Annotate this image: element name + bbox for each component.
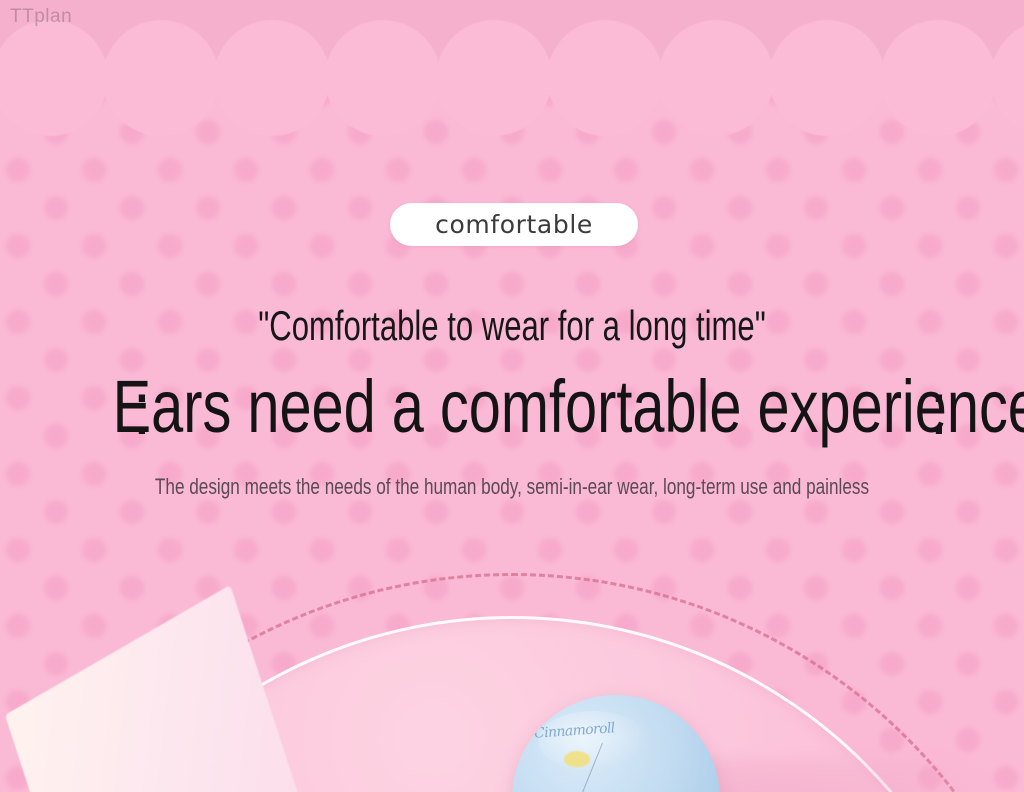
comfortable-badge: comfortable: [390, 203, 638, 246]
scallop-arc: [436, 20, 552, 136]
headline-mark-right-glyph: :: [935, 390, 942, 446]
hero-headline-wrap: Ears need a comfortable experience: [0, 366, 1024, 448]
scallop-arc: [214, 20, 330, 136]
scallop-arc: [769, 20, 885, 136]
scallop-arc: [103, 20, 219, 136]
scallop-arc: [547, 20, 663, 136]
hero-description: The design meets the needs of the human …: [113, 472, 912, 502]
charm-icon: [564, 751, 590, 767]
scallop-arc: [880, 20, 996, 136]
product-photo: Cinnamoroll ✦: [0, 540, 1024, 792]
cream-wedge-highlight: [5, 585, 338, 792]
hero-headline: Ears need a comfortable experience: [113, 366, 912, 448]
comfortable-badge-label: comfortable: [435, 210, 593, 239]
scallop-arc-row: [0, 0, 1024, 80]
scallop-arc: [325, 20, 441, 136]
headline-mark-left-glyph: :: [138, 390, 145, 446]
product-detail-page: TTplan comfortable "Comfortable to wear …: [0, 0, 1024, 792]
watermark-label: TTplan: [10, 6, 72, 28]
hero-quote: "Comfortable to wear for a long time": [133, 300, 891, 352]
headline-mark-left: :: [138, 390, 145, 446]
hero-text-block: "Comfortable to wear for a long time" Ea…: [0, 300, 1024, 502]
scallop-arc: [658, 20, 774, 136]
headline-mark-right: :: [935, 390, 942, 446]
